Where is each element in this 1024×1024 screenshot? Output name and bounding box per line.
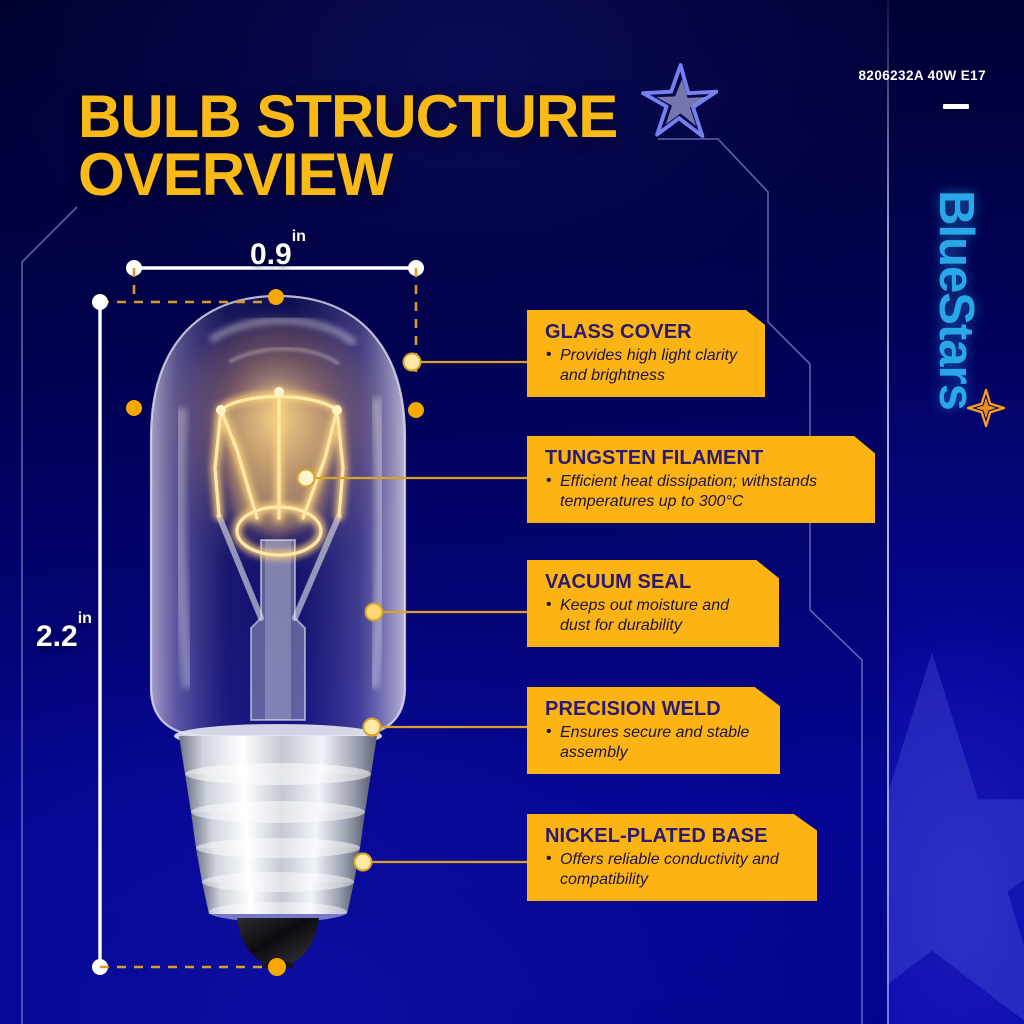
callout-glass-cover[interactable]: GLASS COVER Provides high light clarity … (527, 310, 765, 397)
callout-bullet: Ensures secure and stable assembly (545, 723, 764, 762)
width-value: 0.9 (250, 238, 292, 271)
width-dimension-label: 0.9in (250, 238, 306, 272)
panel-watermark-star-icon (887, 644, 1024, 1024)
star-sparkle-icon (967, 389, 1005, 427)
left-corner-hairline (22, 207, 77, 1024)
callout-bullets: Offers reliable conductivity and compati… (545, 850, 801, 889)
callout-bullet: Offers reliable conductivity and compati… (545, 850, 801, 889)
height-unit: in (78, 610, 92, 627)
callout-title: TUNGSTEN FILAMENT (545, 447, 859, 470)
height-dim-endpoint-top (92, 294, 108, 310)
callout-title: GLASS COVER (545, 321, 749, 344)
callout-bullets: Provides high light clarity and brightne… (545, 346, 749, 385)
callout-bullet: Provides high light clarity and brightne… (545, 346, 749, 385)
callout-nickel-plated-base[interactable]: NICKEL-PLATED BASE Offers reliable condu… (527, 814, 817, 901)
callout-vacuum-seal[interactable]: VACUUM SEAL Keeps out moisture and dust … (527, 560, 779, 647)
height-value: 2.2 (36, 620, 78, 653)
callout-precision-weld[interactable]: PRECISION WELD Ensures secure and stable… (527, 687, 780, 774)
callout-bullets: Ensures secure and stable assembly (545, 723, 764, 762)
width-unit: in (292, 228, 306, 245)
brand-name: BlueStars (928, 190, 984, 410)
callout-list: GLASS COVER Provides high light clarity … (527, 0, 887, 1024)
callout-title: PRECISION WELD (545, 698, 764, 721)
bulb-svg (133, 288, 423, 968)
callout-title: NICKEL-PLATED BASE (545, 825, 801, 848)
infographic-canvas: BlueStars BULB STRUCTURE OVERVIEW 820623… (0, 0, 1024, 1024)
part-number-underline (943, 104, 969, 109)
width-dim-endpoint-right (408, 260, 424, 276)
callout-title: VACUUM SEAL (545, 571, 763, 594)
callout-bullets: Efficient heat dissipation; withstands t… (545, 472, 859, 511)
callout-bullets: Keeps out moisture and dust for durabili… (545, 596, 763, 635)
callout-bullet: Efficient heat dissipation; withstands t… (545, 472, 859, 511)
brand-panel: BlueStars (887, 0, 1024, 1024)
height-dim-endpoint-bottom (92, 959, 108, 975)
callout-tungsten-filament[interactable]: TUNGSTEN FILAMENT Efficient heat dissipa… (527, 436, 875, 523)
callout-bullet: Keeps out moisture and dust for durabili… (545, 596, 763, 635)
width-dim-endpoint-left (126, 260, 142, 276)
bulb-illustration (133, 288, 423, 968)
height-dimension-label: 2.2in (36, 620, 92, 654)
